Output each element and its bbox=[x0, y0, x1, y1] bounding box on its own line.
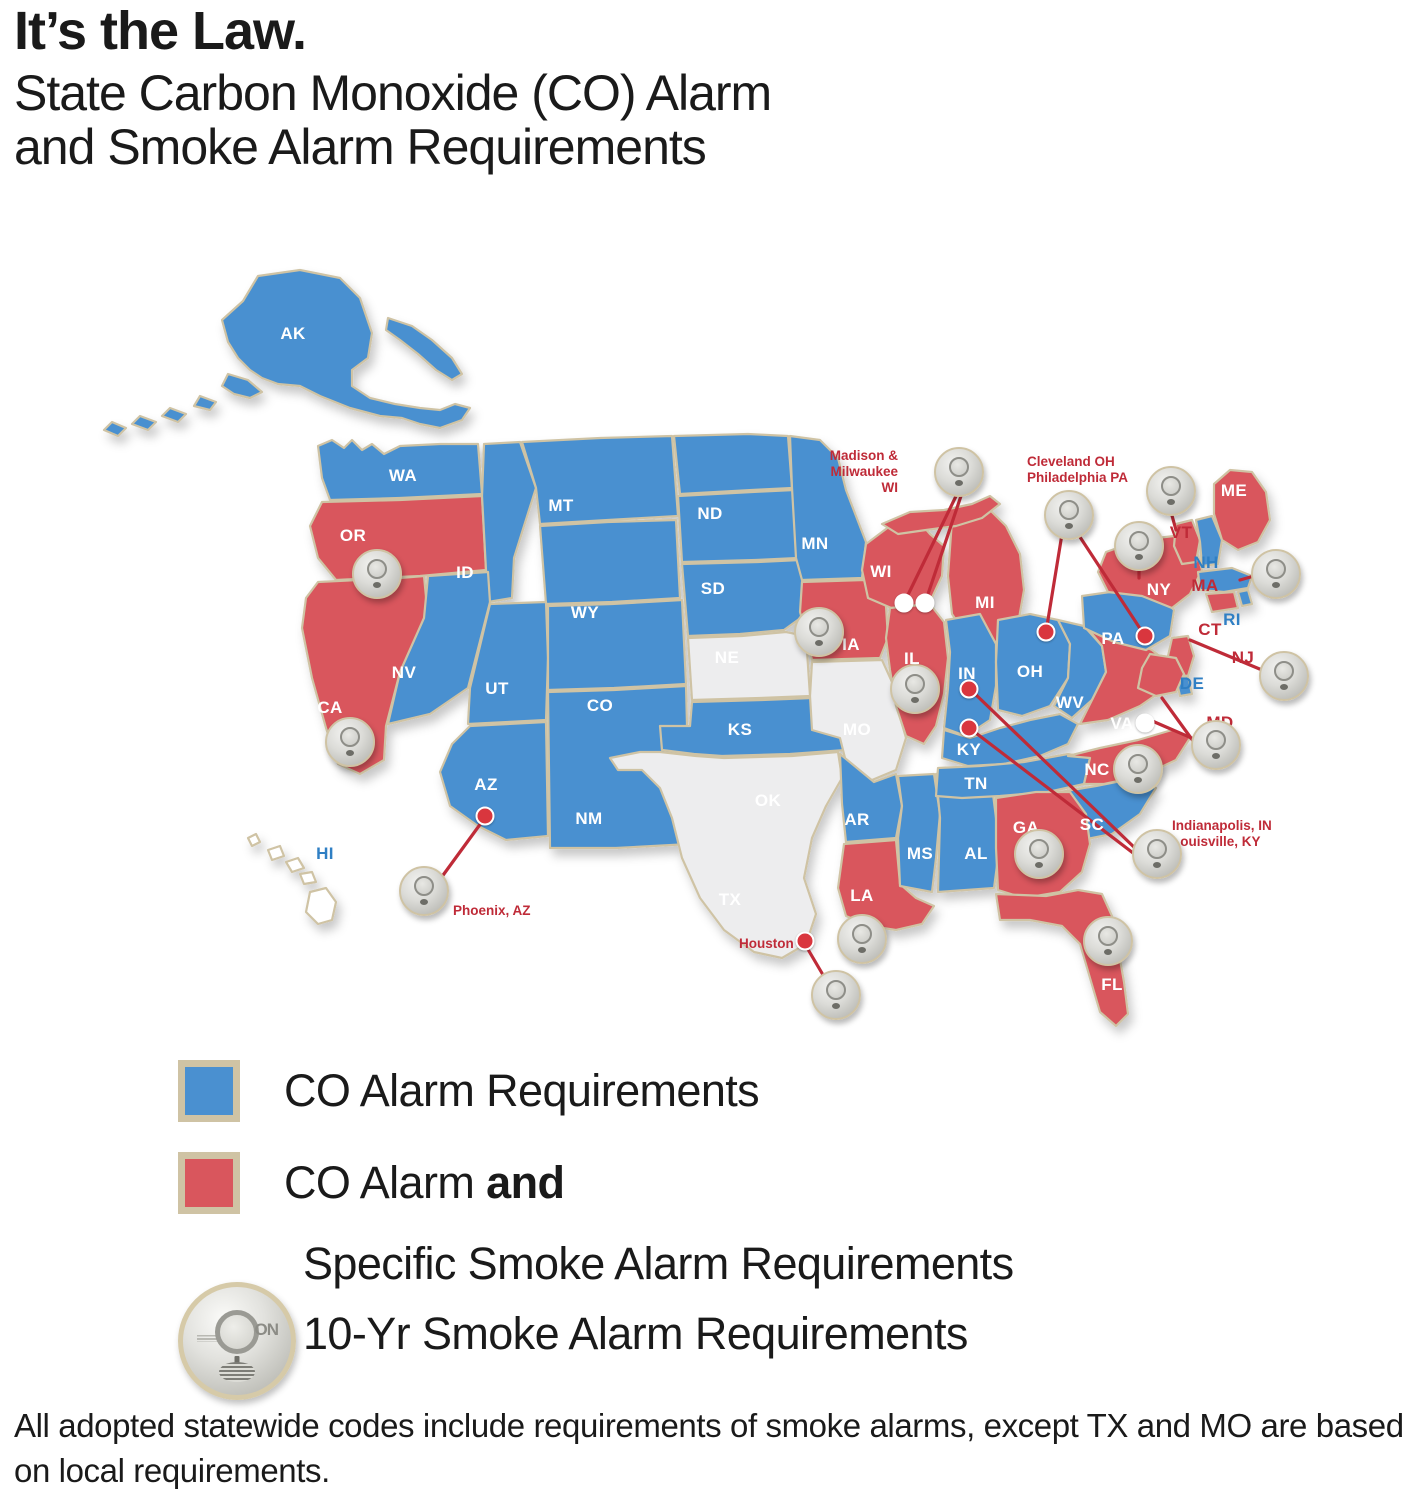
puck-newyork-icon bbox=[1114, 521, 1164, 571]
legend-label-bold-and: and bbox=[486, 1157, 564, 1208]
detector-grill-icon bbox=[955, 480, 963, 486]
state-WA bbox=[318, 440, 482, 500]
detector-on-text: ON bbox=[255, 1320, 279, 1340]
city-marker-houston-tx[interactable] bbox=[796, 932, 815, 951]
city-marker-milwaukee-wi[interactable] bbox=[916, 594, 935, 613]
legend-swatch-blue bbox=[178, 1060, 240, 1122]
legend-swatch-red bbox=[178, 1152, 240, 1214]
detector-grill-icon bbox=[911, 697, 919, 703]
detector-ring-icon bbox=[905, 674, 925, 694]
state-CO bbox=[548, 600, 686, 690]
detector-grill-icon bbox=[1153, 862, 1161, 868]
state-AK-aleutians bbox=[104, 374, 262, 436]
page-subtitle-line2: and Smoke Alarm Requirements bbox=[14, 120, 1314, 174]
puck-vermont-icon bbox=[1146, 466, 1196, 516]
detector-ring-icon bbox=[852, 924, 872, 944]
connector-newjersey bbox=[1190, 640, 1262, 670]
detector-ring-icon bbox=[1266, 559, 1286, 579]
puck-maryland-icon bbox=[1191, 720, 1241, 770]
detector-grill-icon bbox=[1212, 753, 1220, 759]
state-KS bbox=[688, 632, 810, 700]
page-title: It’s the Law. bbox=[14, 4, 1314, 58]
legend-item-co-alarm[interactable]: CO Alarm Requirements bbox=[178, 1060, 759, 1122]
puck-wisconsin-icon bbox=[934, 447, 984, 497]
detector-grill-icon bbox=[1135, 554, 1143, 560]
puck-northcarolina-icon bbox=[1113, 744, 1163, 794]
state-MT bbox=[522, 436, 678, 524]
callout-label-4: Houston bbox=[739, 936, 794, 952]
puck-louisiana-icon bbox=[837, 914, 887, 964]
smoke-detector-icon: ON bbox=[178, 1282, 296, 1400]
state-WY bbox=[540, 520, 680, 604]
detector-ring-icon bbox=[1098, 926, 1118, 946]
detector-grill-icon bbox=[1104, 949, 1112, 955]
puck-illinois-icon bbox=[890, 664, 940, 714]
detector-grill-icon bbox=[815, 640, 823, 646]
detector-grill-icon bbox=[858, 947, 866, 953]
detector-grill-icon bbox=[1065, 523, 1073, 529]
legend-label-co-and-smoke: CO Alarm and bbox=[284, 1157, 564, 1209]
puck-phoenix-icon bbox=[399, 866, 449, 916]
detector-ring-icon bbox=[1128, 754, 1148, 774]
detector-ring-icon bbox=[809, 617, 829, 637]
detector-grill-icon bbox=[1280, 684, 1288, 690]
detector-ring-icon bbox=[367, 559, 387, 579]
detector-grill-icon bbox=[1272, 582, 1280, 588]
detector-ring-icon bbox=[1206, 730, 1226, 750]
detector-grill-icon bbox=[832, 1003, 840, 1009]
state-ME bbox=[1214, 470, 1270, 550]
state-ID bbox=[482, 442, 536, 602]
us-map-svg bbox=[0, 258, 1413, 1058]
detector-ring-icon bbox=[1059, 500, 1079, 520]
detector-ring-icon bbox=[414, 876, 434, 896]
city-marker-madison-wi[interactable] bbox=[895, 594, 914, 613]
detector-test-button-ring bbox=[215, 1310, 259, 1354]
city-marker-virginia-va[interactable] bbox=[1136, 714, 1155, 733]
puck-oregon-icon bbox=[352, 549, 402, 599]
detector-grill-icon bbox=[346, 750, 354, 756]
title-block: It’s the Law. State Carbon Monoxide (CO)… bbox=[14, 4, 1314, 174]
detector-ring-icon bbox=[1147, 839, 1167, 859]
state-RI bbox=[1238, 590, 1252, 606]
detector-ring-icon bbox=[1029, 839, 1049, 859]
footnote-text: All adopted statewide codes include requ… bbox=[14, 1404, 1409, 1494]
callout-label-1: Cleveland OH Philadelphia PA bbox=[1027, 454, 1128, 486]
puck-newjersey-icon bbox=[1259, 651, 1309, 701]
detector-ring-icon bbox=[1274, 661, 1294, 681]
puck-california-icon bbox=[325, 717, 375, 767]
legend-label-part1: CO Alarm bbox=[284, 1157, 486, 1208]
city-marker-cleveland-oh[interactable] bbox=[1037, 623, 1056, 642]
callout-label-2: Indianapolis, IN Louisville, KY bbox=[1172, 818, 1272, 850]
legend-item-co-and-smoke[interactable]: CO Alarm and bbox=[178, 1152, 564, 1214]
city-marker-indianapolis-in[interactable] bbox=[960, 680, 979, 699]
state-AK-panhandle bbox=[386, 318, 462, 380]
puck-indy-louis-icon bbox=[1132, 829, 1182, 879]
us-map: AKWAORCAIDNVMTWYUTAZCONMNDSDNEKSOKTXMNIA… bbox=[0, 258, 1413, 1058]
detector-ring-icon bbox=[1161, 476, 1181, 496]
legend-label-specific-smoke: Specific Smoke Alarm Requirements bbox=[303, 1238, 1013, 1290]
puck-massachusetts-icon bbox=[1251, 549, 1301, 599]
detector-grill-icon bbox=[1035, 862, 1043, 868]
legend-label-10yr-smoke: 10-Yr Smoke Alarm Requirements bbox=[303, 1308, 968, 1360]
detector-ring-icon bbox=[826, 980, 846, 1000]
detector-grill-icon bbox=[420, 899, 428, 905]
puck-houston-icon bbox=[811, 970, 861, 1020]
state-AZ bbox=[440, 722, 548, 840]
state-CT bbox=[1206, 592, 1238, 612]
state-SD bbox=[678, 490, 798, 562]
detector-grill-icon bbox=[373, 582, 381, 588]
page-subtitle-line1: State Carbon Monoxide (CO) Alarm bbox=[14, 66, 1314, 120]
state-MS bbox=[898, 774, 940, 892]
detector-ring-icon bbox=[340, 727, 360, 747]
state-HI bbox=[248, 834, 336, 924]
state-NE bbox=[682, 560, 806, 636]
connector-cleveland bbox=[1046, 534, 1062, 632]
puck-iowa-icon bbox=[794, 607, 844, 657]
legend-label-co-alarm: CO Alarm Requirements bbox=[284, 1065, 759, 1117]
callout-label-3: Phoenix, AZ bbox=[453, 903, 531, 919]
detector-ring-icon bbox=[949, 457, 969, 477]
detector-ring-icon bbox=[1129, 531, 1149, 551]
city-marker-louisville-ky[interactable] bbox=[960, 719, 979, 738]
city-marker-philadelphia-pa[interactable] bbox=[1136, 627, 1155, 646]
connector-phoenix bbox=[441, 819, 484, 878]
city-marker-phoenix-az[interactable] bbox=[476, 807, 495, 826]
puck-ohio-pa-icon bbox=[1044, 490, 1094, 540]
puck-georgia-icon bbox=[1014, 829, 1064, 879]
detector-speaker-grill bbox=[219, 1362, 255, 1382]
callout-label-0: Madison & Milwaukee WI bbox=[768, 448, 898, 496]
detector-grill-icon bbox=[1167, 499, 1175, 505]
detector-grill-icon bbox=[1134, 777, 1142, 783]
puck-florida-icon bbox=[1083, 916, 1133, 966]
